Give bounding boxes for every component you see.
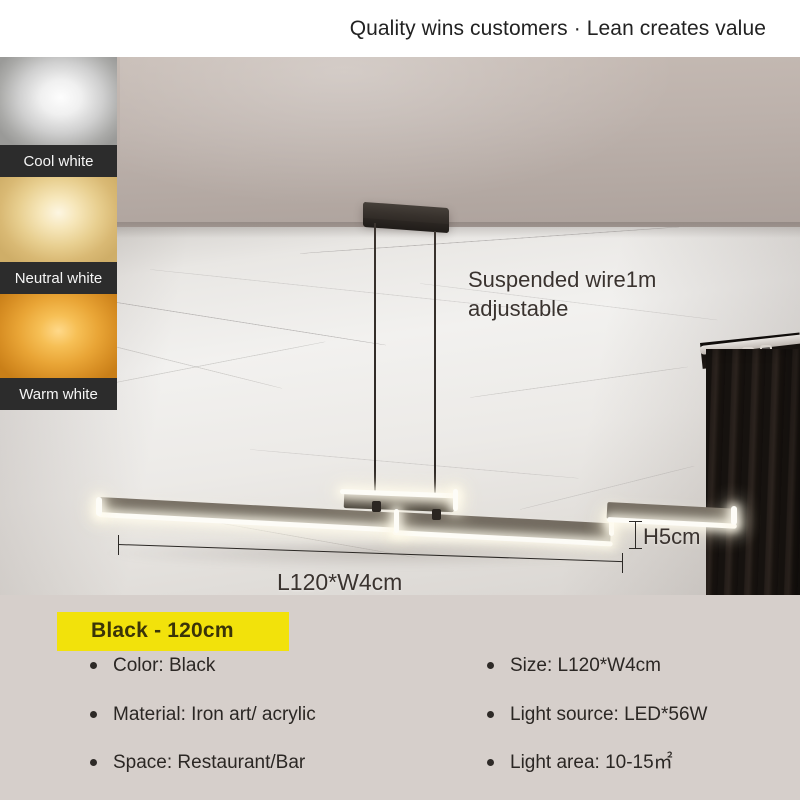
annotation-suspension: Suspended wire1m adjustable [468, 265, 656, 323]
swatch-neutral-white-image [0, 177, 117, 262]
bullet-icon [487, 662, 494, 669]
header-bar: Quality wins customers · Lean creates va… [0, 0, 800, 57]
wire-mount-right [432, 509, 441, 520]
bullet-icon [487, 759, 494, 766]
wire-mount-left [372, 501, 381, 512]
lamp-led-step-join-right [453, 489, 458, 511]
spec-column-right: Size: L120*W4cm Light source: LED*56W Li… [487, 652, 797, 798]
spec-item: Material: Iron art/ acrylic [90, 701, 460, 729]
height-dimension-bracket [629, 521, 642, 549]
annotation-length: L120*W4cm [277, 569, 402, 595]
lamp-led-right-cap [731, 506, 737, 525]
bullet-icon [90, 759, 97, 766]
variant-badge[interactable]: Black - 120cm [57, 612, 289, 651]
spec-item-label: Light source: LED*56W [510, 701, 708, 729]
color-temperature-swatches: Cool white Neutral white Warm white [0, 57, 117, 413]
bracket-stem [635, 521, 636, 549]
bullet-icon [90, 711, 97, 718]
lamp-led-left-cap [96, 497, 102, 516]
header-slogan: Quality wins customers · Lean creates va… [350, 17, 766, 41]
suspension-wire [434, 231, 436, 513]
spec-item: Light source: LED*56W [487, 701, 797, 729]
spec-column-left: Color: Black Material: Iron art/ acrylic… [90, 652, 460, 798]
bracket-tick-bottom [629, 548, 642, 549]
swatch-warm-white[interactable]: Warm white [0, 294, 117, 410]
pendant-lamp [95, 481, 640, 549]
ceiling-light-sheen [120, 57, 680, 207]
swatch-warm-white-label: Warm white [0, 378, 117, 410]
spec-item-label: Space: Restaurant/Bar [113, 749, 305, 777]
swatch-neutral-white-label: Neutral white [0, 262, 117, 294]
bullet-icon [90, 662, 97, 669]
product-photo: Suspended wire1m adjustable H5cm L120*W4… [0, 57, 800, 595]
curtain-panel [706, 349, 800, 595]
product-detail-image: Quality wins customers · Lean creates va… [0, 0, 800, 800]
spec-item: Space: Restaurant/Bar [90, 749, 460, 777]
swatch-cool-white-label: Cool white [0, 145, 117, 177]
spec-item-label: Color: Black [113, 652, 215, 680]
annotation-height: H5cm [643, 522, 700, 551]
bullet-icon [487, 711, 494, 718]
spec-item-label: Size: L120*W4cm [510, 652, 661, 680]
suspension-wire [374, 223, 376, 503]
swatch-neutral-white[interactable]: Neutral white [0, 177, 117, 293]
lamp-led-step-join-left [394, 509, 399, 533]
swatch-cool-white[interactable]: Cool white [0, 57, 117, 176]
length-dimension-cap-right [622, 553, 623, 573]
swatch-cool-white-image [0, 57, 117, 145]
swatch-warm-white-image [0, 294, 117, 378]
spec-item: Color: Black [90, 652, 460, 680]
spec-item: Light area: 10-15㎡ [487, 749, 797, 777]
spec-item-label: Material: Iron art/ acrylic [113, 701, 316, 729]
spec-item: Size: L120*W4cm [487, 652, 797, 680]
spec-item-label: Light area: 10-15㎡ [510, 749, 673, 777]
